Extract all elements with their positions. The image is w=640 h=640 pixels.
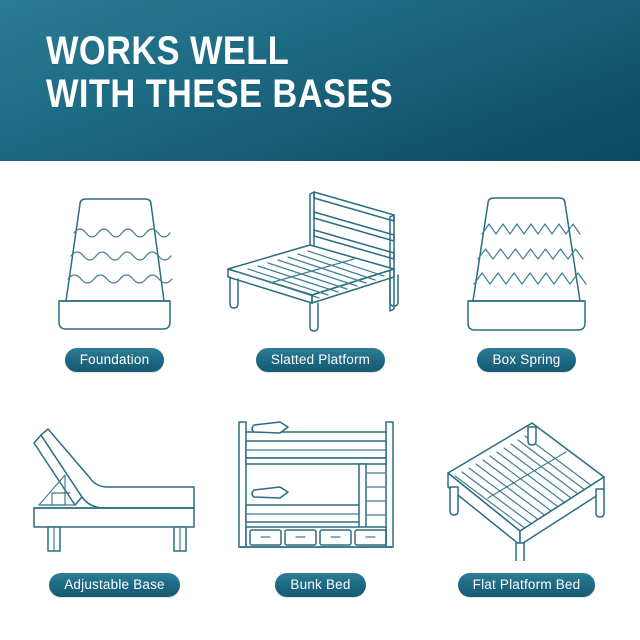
foundation-label-wrap: Foundation (8, 348, 221, 372)
foundation-illustration (8, 171, 221, 336)
base-card-bunk-bed[interactable]: Bunk Bed (214, 401, 427, 561)
infographic-page: WORKS WELL WITH THESE BASES (0, 0, 640, 640)
bunk-bed-icon (239, 422, 393, 547)
box-spring-icon (468, 198, 586, 330)
base-card-flat-platform-bed[interactable]: Flat Platform Bed (420, 401, 633, 561)
base-label-foundation[interactable]: Foundation (65, 348, 165, 372)
base-label-flat-platform-bed[interactable]: Flat Platform Bed (458, 573, 596, 597)
base-label-slatted-platform[interactable]: Slatted Platform (256, 348, 385, 372)
page-title: WORKS WELL WITH THESE BASES (46, 30, 393, 116)
adjustable-base-label-wrap: Adjustable Base (8, 573, 221, 597)
flat-platform-bed-label-wrap: Flat Platform Bed (420, 573, 633, 597)
bases-grid: Foundation (0, 161, 640, 640)
base-card-foundation[interactable]: Foundation (8, 171, 221, 336)
slatted-platform-illustration (214, 171, 427, 336)
base-card-adjustable-base[interactable]: Adjustable Base (8, 401, 221, 561)
base-label-box-spring[interactable]: Box Spring (477, 348, 575, 372)
flat-platform-bed-illustration (420, 401, 633, 561)
base-card-box-spring[interactable]: Box Spring (420, 171, 633, 336)
foundation-mattress-icon (59, 199, 172, 329)
base-label-adjustable-base[interactable]: Adjustable Base (49, 573, 180, 597)
slatted-platform-bed-icon (228, 192, 398, 331)
box-spring-label-wrap: Box Spring (420, 348, 633, 372)
box-spring-illustration (420, 171, 633, 336)
bunk-bed-illustration (214, 401, 427, 561)
base-card-slatted-platform[interactable]: Slatted Platform (214, 171, 427, 336)
header-banner: WORKS WELL WITH THESE BASES (0, 0, 640, 161)
flat-platform-bed-icon (448, 423, 604, 561)
adjustable-base-illustration (8, 401, 221, 561)
adjustable-base-icon (34, 429, 194, 551)
slatted-platform-label-wrap: Slatted Platform (214, 348, 427, 372)
base-label-bunk-bed[interactable]: Bunk Bed (275, 573, 365, 597)
bunk-bed-label-wrap: Bunk Bed (214, 573, 427, 597)
